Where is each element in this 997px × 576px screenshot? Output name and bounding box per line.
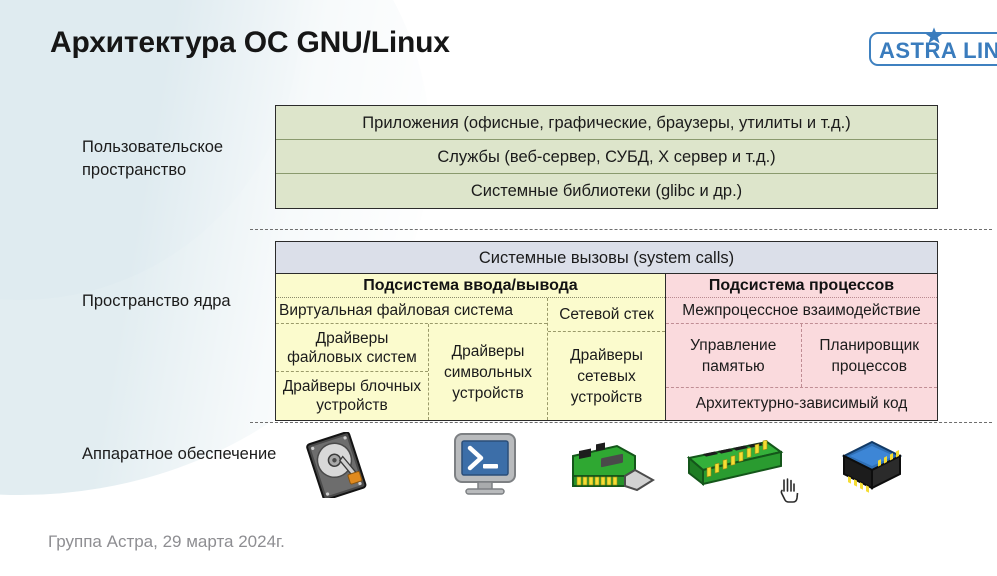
vfs-row: Виртуальная файловая система	[276, 298, 547, 324]
user-space-layer-system-libraries: Системные библиотеки (glibc и др.)	[276, 174, 937, 208]
char-device-drivers-cell: Драйверы символьных устройств	[429, 324, 547, 420]
block-device-drivers-cell: Драйверы блочных устройств	[276, 372, 428, 420]
hardware-icon-row	[290, 432, 930, 498]
filesystem-drivers-cell: Драйверы файловых систем	[276, 324, 428, 372]
process-subsystem-title: Подсистема процессов	[666, 274, 937, 298]
cpu-chip-icon	[840, 440, 904, 496]
monitor-terminal-icon	[450, 432, 520, 498]
separator-user-kernel	[250, 229, 992, 230]
process-subsystem-column: Подсистема процессов Межпроцессное взаим…	[665, 274, 937, 420]
network-card-icon	[565, 442, 657, 494]
zone-label-kernel-space: Пространство ядра	[82, 290, 292, 313]
ram-module-icon	[685, 440, 785, 496]
user-space-layer-services: Службы (веб-сервер, СУБД, X сервер и т.д…	[276, 140, 937, 174]
page-title: Архитектура ОС GNU/Linux	[50, 26, 450, 60]
network-group: Сетевой стек Драйверы сетевых устройств	[547, 298, 665, 420]
footer-text: Группа Астра, 29 марта 2024г.	[48, 532, 285, 552]
hand-pointer-cursor	[777, 477, 799, 503]
architecture-dependent-code-cell: Архитектурно-зависимый код	[666, 388, 937, 419]
io-subsystem-title: Подсистема ввода/вывода	[276, 274, 665, 298]
virtual-file-system-cell: Виртуальная файловая система	[276, 298, 547, 323]
io-subsystem-column: Подсистема ввода/вывода Виртуальная файл…	[276, 274, 665, 420]
hard-disk-icon	[300, 432, 372, 498]
ipc-cell: Межпроцессное взаимодействие	[666, 298, 937, 324]
memory-management-cell: Управление памятью	[666, 324, 802, 387]
user-space-stack: Приложения (офисные, графические, браузе…	[275, 105, 938, 209]
process-scheduler-cell: Планировщик процессов	[802, 324, 938, 387]
logo-text: ASTRA LIN	[879, 38, 997, 64]
astra-linux-logo: ASTRA LIN	[869, 26, 997, 66]
io-left-group: Виртуальная файловая система Драйверы фа…	[276, 298, 547, 420]
network-device-drivers-cell: Драйверы сетевых устройств	[548, 332, 665, 420]
system-calls-band: Системные вызовы (system calls)	[276, 242, 937, 274]
zone-label-user-space: Пользовательское пространство	[82, 136, 292, 182]
network-stack-cell: Сетевой стек	[548, 298, 665, 332]
filesystem-drivers-group: Драйверы файловых систем Драйверы блочны…	[276, 324, 429, 420]
separator-kernel-hardware	[250, 422, 992, 423]
zone-label-hardware: Аппаратное обеспечение	[82, 443, 292, 466]
user-space-layer-applications: Приложения (офисные, графические, браузе…	[276, 106, 937, 140]
kernel-space-block: Системные вызовы (system calls) Подсисте…	[275, 241, 938, 421]
